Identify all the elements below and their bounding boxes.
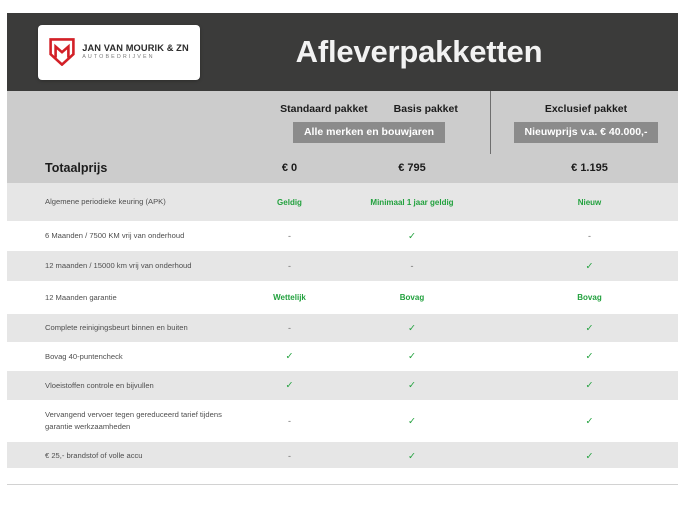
logo-company-subtitle: AUTOBEDRIJVEN: [82, 55, 189, 60]
feature-value-basis: ✓: [352, 380, 472, 391]
page-title: Afleverpakketten: [200, 34, 638, 70]
feature-value-standaard: -: [252, 261, 327, 271]
feature-label: Vloeistoffen controle en bijvullen: [45, 380, 245, 392]
feature-label: 12 maanden / 15000 km vrij van onderhoud: [45, 260, 245, 272]
logo-company-name: JAN VAN MOURIK & ZN: [82, 44, 189, 53]
feature-value-standaard: ✓: [252, 380, 327, 391]
feature-value-standaard: -: [252, 451, 327, 461]
feature-label: € 25,- brandstof of volle accu: [45, 450, 245, 462]
feature-label: 6 Maanden / 7500 KM vrij van onderhoud: [45, 230, 245, 242]
feature-value-standaard: Wettelijk: [252, 293, 327, 302]
feature-label: 12 Maanden garantie: [45, 292, 245, 304]
table-bottom-spacer: [7, 468, 678, 485]
table-row: Vloeistoffen controle en bijvullen✓✓✓: [7, 371, 678, 400]
feature-value-exclusief: Nieuw: [532, 198, 647, 207]
feature-label: Vervangend vervoer tegen gereduceerd tar…: [45, 409, 245, 433]
feature-value-standaard: ✓: [252, 351, 327, 362]
total-price-label: Totaalprijs: [45, 161, 107, 175]
table-row: 6 Maanden / 7500 KM vrij van onderhoud-✓…: [7, 221, 678, 251]
feature-value-standaard: -: [252, 323, 327, 333]
package-group-standard-basis: Standaard pakket Basis pakket Alle merke…: [245, 91, 493, 154]
package-title-basis: Basis pakket: [394, 103, 458, 115]
total-price-row: Totaalprijs € 0 € 795 € 1.195: [7, 154, 678, 183]
feature-label: Bovag 40-puntencheck: [45, 351, 245, 363]
feature-comparison-table: Algemene periodieke keuring (APK)GeldigM…: [7, 183, 678, 485]
shield-m-logo-icon: [49, 38, 75, 66]
feature-value-exclusief: ✓: [532, 380, 647, 391]
feature-value-exclusief: ✓: [532, 416, 647, 427]
feature-value-basis: ✓: [352, 351, 472, 362]
page-header: JAN VAN MOURIK & ZN AUTOBEDRIJVEN Afleve…: [7, 13, 678, 91]
total-price-exclusief: € 1.195: [532, 162, 647, 174]
feature-value-basis: -: [352, 261, 472, 271]
table-bottom-rule: [7, 484, 678, 485]
total-price-standaard: € 0: [252, 162, 327, 174]
feature-value-exclusief: Bovag: [532, 293, 647, 302]
feature-value-basis: ✓: [352, 323, 472, 334]
feature-value-basis: ✓: [352, 416, 472, 427]
afleverpakketten-page: JAN VAN MOURIK & ZN AUTOBEDRIJVEN Afleve…: [0, 0, 685, 514]
feature-value-basis: ✓: [352, 231, 472, 242]
package-group-exclusief: Exclusief pakket Nieuwprijs v.a. € 40.00…: [494, 91, 678, 154]
package-chip-nieuwprijs: Nieuwprijs v.a. € 40.000,-: [514, 122, 659, 143]
package-title-exclusief: Exclusief pakket: [545, 103, 627, 115]
feature-value-standaard: -: [252, 416, 327, 426]
feature-value-exclusief: ✓: [532, 451, 647, 462]
company-logo: JAN VAN MOURIK & ZN AUTOBEDRIJVEN: [38, 25, 200, 80]
package-chip-alle-merken: Alle merken en bouwjaren: [293, 122, 445, 143]
package-title-standaard: Standaard pakket: [280, 103, 368, 115]
table-row: Algemene periodieke keuring (APK)GeldigM…: [7, 183, 678, 221]
feature-value-exclusief: ✓: [532, 261, 647, 272]
feature-value-basis: Minimaal 1 jaar geldig: [352, 198, 472, 207]
package-header-band: Standaard pakket Basis pakket Alle merke…: [7, 91, 678, 154]
total-price-basis: € 795: [367, 162, 457, 174]
feature-value-basis: ✓: [352, 451, 472, 462]
feature-value-basis: Bovag: [352, 293, 472, 302]
table-row: Vervangend vervoer tegen gereduceerd tar…: [7, 400, 678, 442]
feature-label: Algemene periodieke keuring (APK): [45, 196, 245, 208]
table-row: 12 maanden / 15000 km vrij van onderhoud…: [7, 251, 678, 281]
table-row: € 25,- brandstof of volle accu-✓✓: [7, 442, 678, 470]
feature-value-standaard: Geldig: [252, 198, 327, 207]
feature-value-exclusief: ✓: [532, 323, 647, 334]
feature-value-exclusief: -: [532, 231, 647, 241]
feature-value-standaard: -: [252, 231, 327, 241]
table-row: Complete reinigingsbeurt binnen en buite…: [7, 314, 678, 342]
table-row: Bovag 40-puntencheck✓✓✓: [7, 342, 678, 371]
table-row: 12 Maanden garantieWettelijkBovagBovag: [7, 281, 678, 314]
feature-value-exclusief: ✓: [532, 351, 647, 362]
feature-label: Complete reinigingsbeurt binnen en buite…: [45, 322, 245, 334]
